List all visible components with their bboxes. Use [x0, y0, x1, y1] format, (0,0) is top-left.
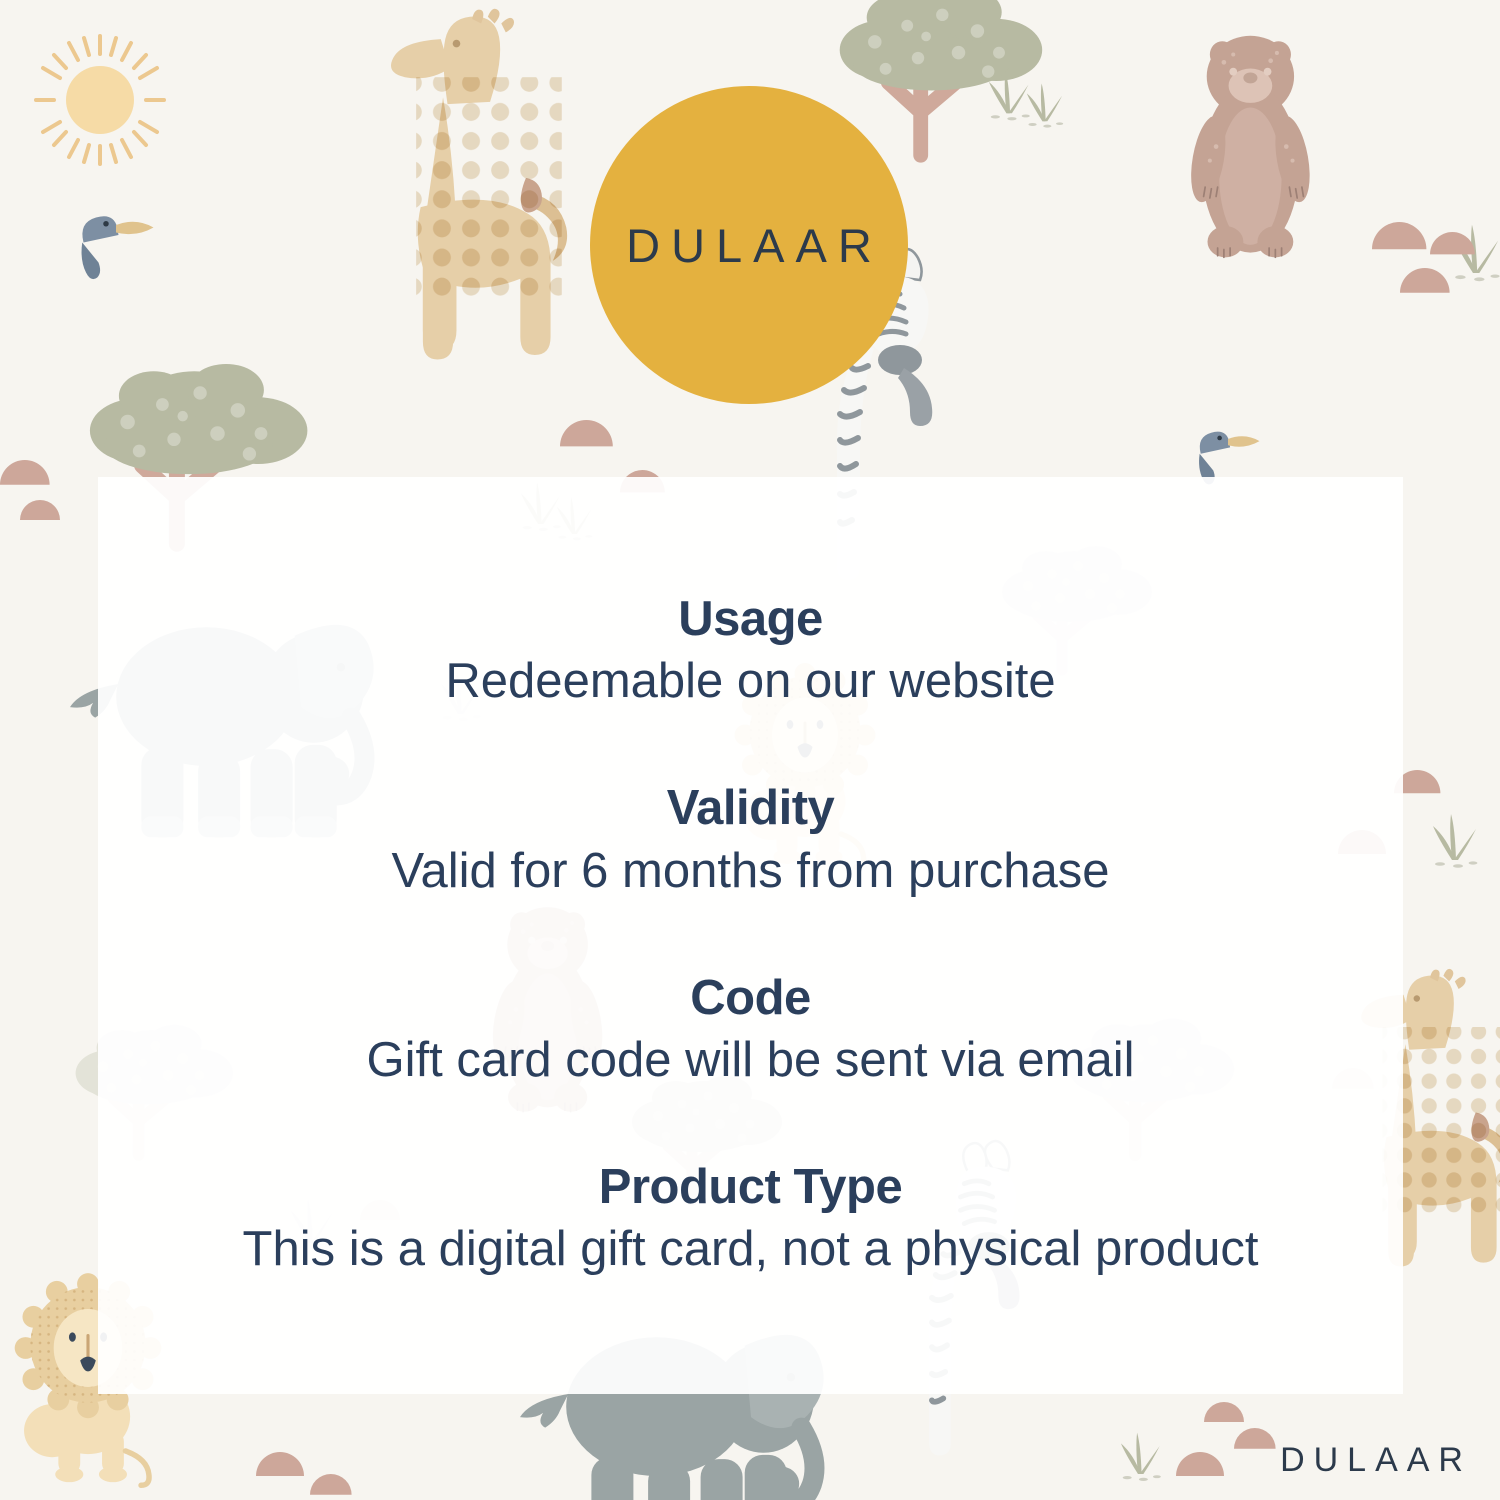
- brand-watermark: DULAAR: [1271, 1441, 1472, 1480]
- section-title-code: Code: [98, 973, 1403, 1024]
- section-body-validity: Valid for 6 months from purchase: [98, 844, 1403, 899]
- section-product-type: Product Type This is a digital gift card…: [98, 1162, 1403, 1277]
- gift-card-graphic: Usage Redeemable on our website Validity…: [0, 0, 1500, 1500]
- brand-logo-badge: DULAAR: [590, 86, 908, 404]
- section-body-code: Gift card code will be sent via email: [98, 1033, 1403, 1088]
- info-panel: Usage Redeemable on our website Validity…: [98, 477, 1403, 1394]
- section-title-usage: Usage: [98, 594, 1403, 645]
- section-body-usage: Redeemable on our website: [98, 654, 1403, 709]
- sun-icon: [36, 36, 164, 164]
- section-code: Code Gift card code will be sent via ema…: [98, 973, 1403, 1088]
- section-validity: Validity Valid for 6 months from purchas…: [98, 783, 1403, 898]
- section-body-product-type: This is a digital gift card, not a physi…: [98, 1222, 1403, 1277]
- section-title-product-type: Product Type: [98, 1162, 1403, 1213]
- brand-logo-text: DULAAR: [615, 218, 883, 273]
- section-usage: Usage Redeemable on our website: [98, 594, 1403, 709]
- section-title-validity: Validity: [98, 783, 1403, 834]
